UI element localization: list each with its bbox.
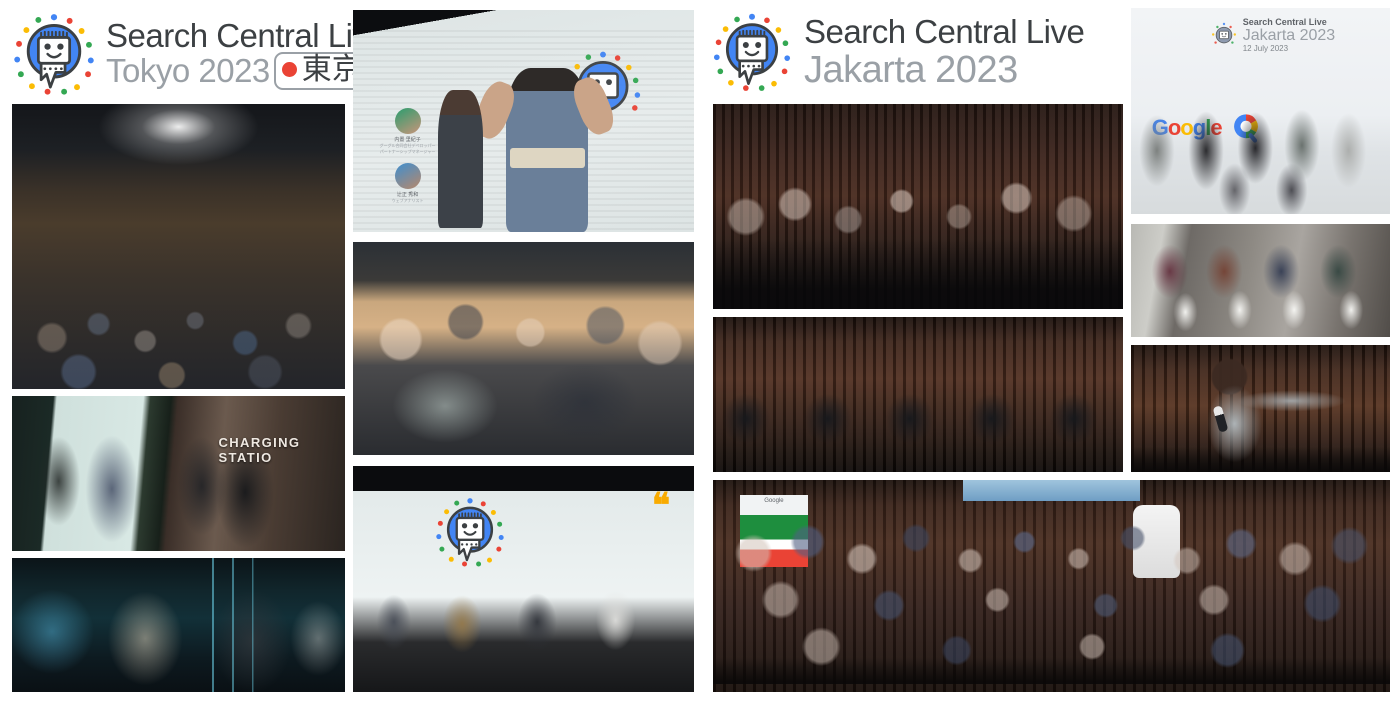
- host-figure: [438, 90, 482, 228]
- speaker-chip: 辻正 秀和 ウェブアナリスト: [373, 163, 441, 204]
- tokyo-yukata-presenter-photo: 内置 里紀子 グーグル合同会社デベロッパー パートナーシップマネージャー 辻正 …: [353, 10, 694, 232]
- photobooth-line3: 12 July 2023: [1243, 45, 1336, 53]
- jakarta-audience-waving-photo: [713, 104, 1123, 309]
- speaker-chip: 内置 里紀子 グーグル合同会社デベロッパー パートナーシップマネージャー: [373, 108, 441, 155]
- avatar: [395, 108, 421, 134]
- stage-screen-speaker-list: 内置 里紀子 グーグル合同会社デベロッパー パートナーシップマネージャー 辻正 …: [373, 108, 441, 212]
- tokyo-audience-group-photo: [12, 104, 345, 389]
- tokyo-panel-discussion-photo: ❝: [353, 466, 694, 692]
- japan-flag-dot-icon: [282, 62, 297, 77]
- tokyo-title-line1: Search Central Live: [106, 19, 386, 52]
- jakarta-group-photo-large: Google: [713, 480, 1390, 692]
- photobooth-attendees: [1131, 82, 1390, 214]
- jakarta-title-line2: Jakarta 2023: [804, 51, 1084, 89]
- speaker-name: 内置 里紀子: [394, 136, 420, 143]
- tokyo-charging-station-photo: CHARGING STATIO: [12, 396, 345, 551]
- photobooth-line2: Jakarta 2023: [1243, 28, 1336, 45]
- speaker-role: ウェブアナリスト: [392, 198, 424, 204]
- jakarta-brand-lockup: Search Central Live Jakarta 2023: [708, 8, 1084, 96]
- jakarta-swag-bags-photo: [1131, 224, 1390, 337]
- speaker-role: グーグル合同会社デベロッパー パートナーシップマネージャー: [380, 143, 436, 155]
- jakarta-title-line1: Search Central Live: [804, 15, 1084, 48]
- avatar: [395, 163, 421, 189]
- photobooth-backdrop-lockup: Search Central Live Jakarta 2023 12 July…: [1209, 18, 1336, 53]
- tokyo-title-line2: Tokyo 2023: [106, 54, 270, 87]
- search-central-bot-icon: [1209, 21, 1239, 51]
- search-central-bot-icon: [8, 8, 100, 100]
- tokyo-attendees-heart-hands-photo: [353, 242, 694, 455]
- stage-screen-bot-icon: [431, 493, 509, 571]
- quote-mark-icon: ❝: [652, 493, 670, 520]
- tokyo-brand-lockup: Search Central Live Tokyo 2023 東京: [8, 8, 386, 100]
- jakarta-audience-question-photo: [1131, 345, 1390, 472]
- jakarta-photobooth-group-photo: Search Central Live Jakarta 2023 12 July…: [1131, 8, 1390, 214]
- presenter-obi-belt: [510, 148, 585, 168]
- speaker-name: 辻正 秀和: [397, 191, 418, 198]
- charging-station-sign: CHARGING STATIO: [218, 435, 345, 465]
- collage-canvas: Search Central Live Tokyo 2023 東京: [0, 0, 1400, 704]
- tokyo-networking-drinks-photo: [12, 558, 345, 692]
- search-central-bot-icon: [708, 8, 796, 96]
- jakarta-panel-discussion-photo: [713, 317, 1123, 472]
